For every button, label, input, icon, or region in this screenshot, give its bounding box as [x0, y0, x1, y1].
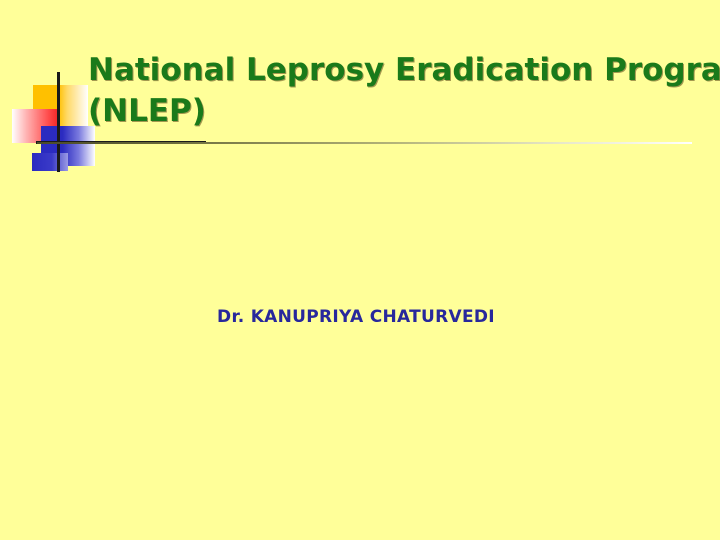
presenter-block: Dr. KANUPRIYA CHATURVEDI [0, 307, 720, 327]
abstract-squares-logo [10, 68, 100, 173]
presentation-slide: National Leprosy Eradication Program (NL… [0, 0, 720, 540]
presenter-name: Dr. KANUPRIYA CHATURVEDI [217, 307, 495, 327]
blue-small-rectangle-shape [32, 153, 68, 171]
vertical-crossline-shape [57, 72, 60, 172]
title-divider-rule [37, 142, 692, 144]
slide-title-line-2: (NLEP) [88, 91, 704, 132]
slide-title-line-1: National Leprosy Eradication Program [88, 50, 704, 91]
slide-title: National Leprosy Eradication Program (NL… [88, 50, 704, 132]
